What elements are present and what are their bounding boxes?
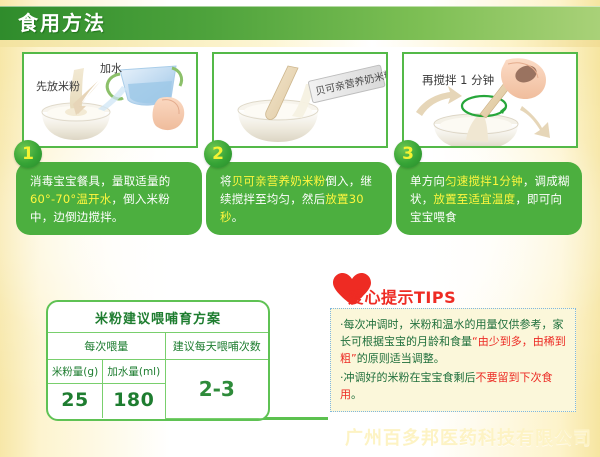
page-title: 食用方法	[18, 11, 106, 35]
feeding-table: 米粉建议喂哺育方案 每次喂量 建议每天喂哺次数 米粉量(g) 加水量(ml) 2…	[48, 302, 268, 419]
company-watermark: 广州百多邦医药科技有限公司	[345, 424, 592, 450]
step-2-illustration: 贝可亲营养奶米粉	[212, 52, 388, 148]
step-3-illustration: 再搅拌 1 分钟	[402, 52, 578, 148]
step-1-label-left: 先放米粉	[36, 79, 80, 93]
tip-2-text-b: 。	[351, 388, 362, 401]
tips-header: 爱心提示TIPS	[330, 272, 576, 306]
tip-2-text-a: ·冲调好的米粉在宝宝食剩后	[340, 371, 476, 384]
step-1-illustration: 先放米粉 加水	[22, 52, 198, 148]
step-2-number-badge: 2	[204, 140, 232, 168]
step-1-text-a: 消毒宝宝餐具，量取适量的	[30, 174, 170, 188]
step-1-artwork: 先放米粉 加水	[24, 54, 196, 146]
step-3-description: 单方向匀速搅拌1分钟，调成糊状，放置至适宜温度，即可向宝宝喂食	[396, 162, 582, 235]
step-2-text-c: 。	[232, 210, 244, 224]
step-1-text-highlight: 60°-70°温开水	[30, 192, 111, 206]
header-underline	[0, 40, 600, 47]
tips-section: 爱心提示TIPS ·每次冲调时，米粉和温水的用量仅供参考，家长可根据宝宝的月龄和…	[330, 272, 576, 412]
step-2-artwork: 贝可亲营养奶米粉	[214, 54, 386, 146]
step-2-text-a: 将	[220, 174, 232, 188]
feeding-table-value-times: 2-3	[165, 360, 268, 419]
step-2: 贝可亲营养奶米粉 2 将贝可亲营养奶米粉倒入，继续搅拌至均匀，然后放置30秒。	[212, 52, 392, 148]
step-1-description: 消毒宝宝餐具，量取适量的60°-70°温开水，倒入米粉中，边倒边搅拌。	[16, 162, 202, 235]
feeding-table-col-powder: 米粉量(g)	[48, 360, 102, 384]
usage-instructions-page: 食用方法	[0, 0, 600, 457]
step-3: 再搅拌 1 分钟 3 单方向匀速搅拌1分钟，调成糊状，放置至适宜温度，即可向宝宝…	[402, 52, 582, 148]
table-row-title: 米粉建议喂哺育方案	[48, 302, 268, 333]
feeding-table-group-header: 每次喂量	[48, 333, 165, 360]
tip-item-1: ·每次冲调时，米粉和温水的用量仅供参考，家长可根据宝宝的月龄和食量“由少到多，由…	[340, 316, 567, 367]
tips-title: 爱心提示TIPS	[348, 284, 456, 308]
step-3-text-highlight-1: 匀速搅拌1分钟	[445, 174, 523, 188]
steps-row: 先放米粉 加水 1 消毒宝宝餐具，量取适量的60°-70°温开水，倒入米粉中，边…	[0, 52, 600, 252]
step-2-description: 将贝可亲营养奶米粉倒入，继续搅拌至均匀，然后放置30秒。	[206, 162, 392, 235]
feeding-plan-table: 米粉建议喂哺育方案 每次喂量 建议每天喂哺次数 米粉量(g) 加水量(ml) 2…	[46, 300, 270, 421]
step-3-artwork: 再搅拌 1 分钟	[404, 54, 576, 146]
feeding-table-col-water: 加水量(ml)	[102, 360, 165, 384]
step-1-label-right: 加水	[100, 62, 122, 75]
step-1-number-badge: 1	[14, 140, 42, 168]
feeding-table-value-powder: 25	[48, 384, 102, 419]
table-row-group-header: 每次喂量 建议每天喂哺次数	[48, 333, 268, 360]
step-2-text-highlight-1: 贝可亲营养奶米粉	[232, 174, 326, 188]
step-1: 先放米粉 加水 1 消毒宝宝餐具，量取适量的60°-70°温开水，倒入米粉中，边…	[22, 52, 202, 148]
step-3-number-badge: 3	[394, 140, 422, 168]
tip-item-2: ·冲调好的米粉在宝宝食剩后不要留到下次食用。	[340, 369, 567, 403]
feeding-table-value-water: 180	[102, 384, 165, 419]
tips-box: ·每次冲调时，米粉和温水的用量仅供参考，家长可根据宝宝的月龄和食量“由少到多，由…	[330, 308, 576, 412]
step-3-text-a: 单方向	[410, 174, 445, 188]
step-3-text-highlight-2: 放置至适宜温度	[433, 192, 515, 206]
table-row-units: 米粉量(g) 加水量(ml) 2-3	[48, 360, 268, 384]
page-header-bar: 食用方法	[0, 6, 600, 40]
tip-1-text-b: 的原则适当调整。	[357, 352, 445, 365]
feeding-table-times-header: 建议每天喂哺次数	[165, 333, 268, 360]
step-3-label-top: 再搅拌 1 分钟	[422, 73, 494, 87]
feeding-table-title: 米粉建议喂哺育方案	[48, 302, 268, 333]
